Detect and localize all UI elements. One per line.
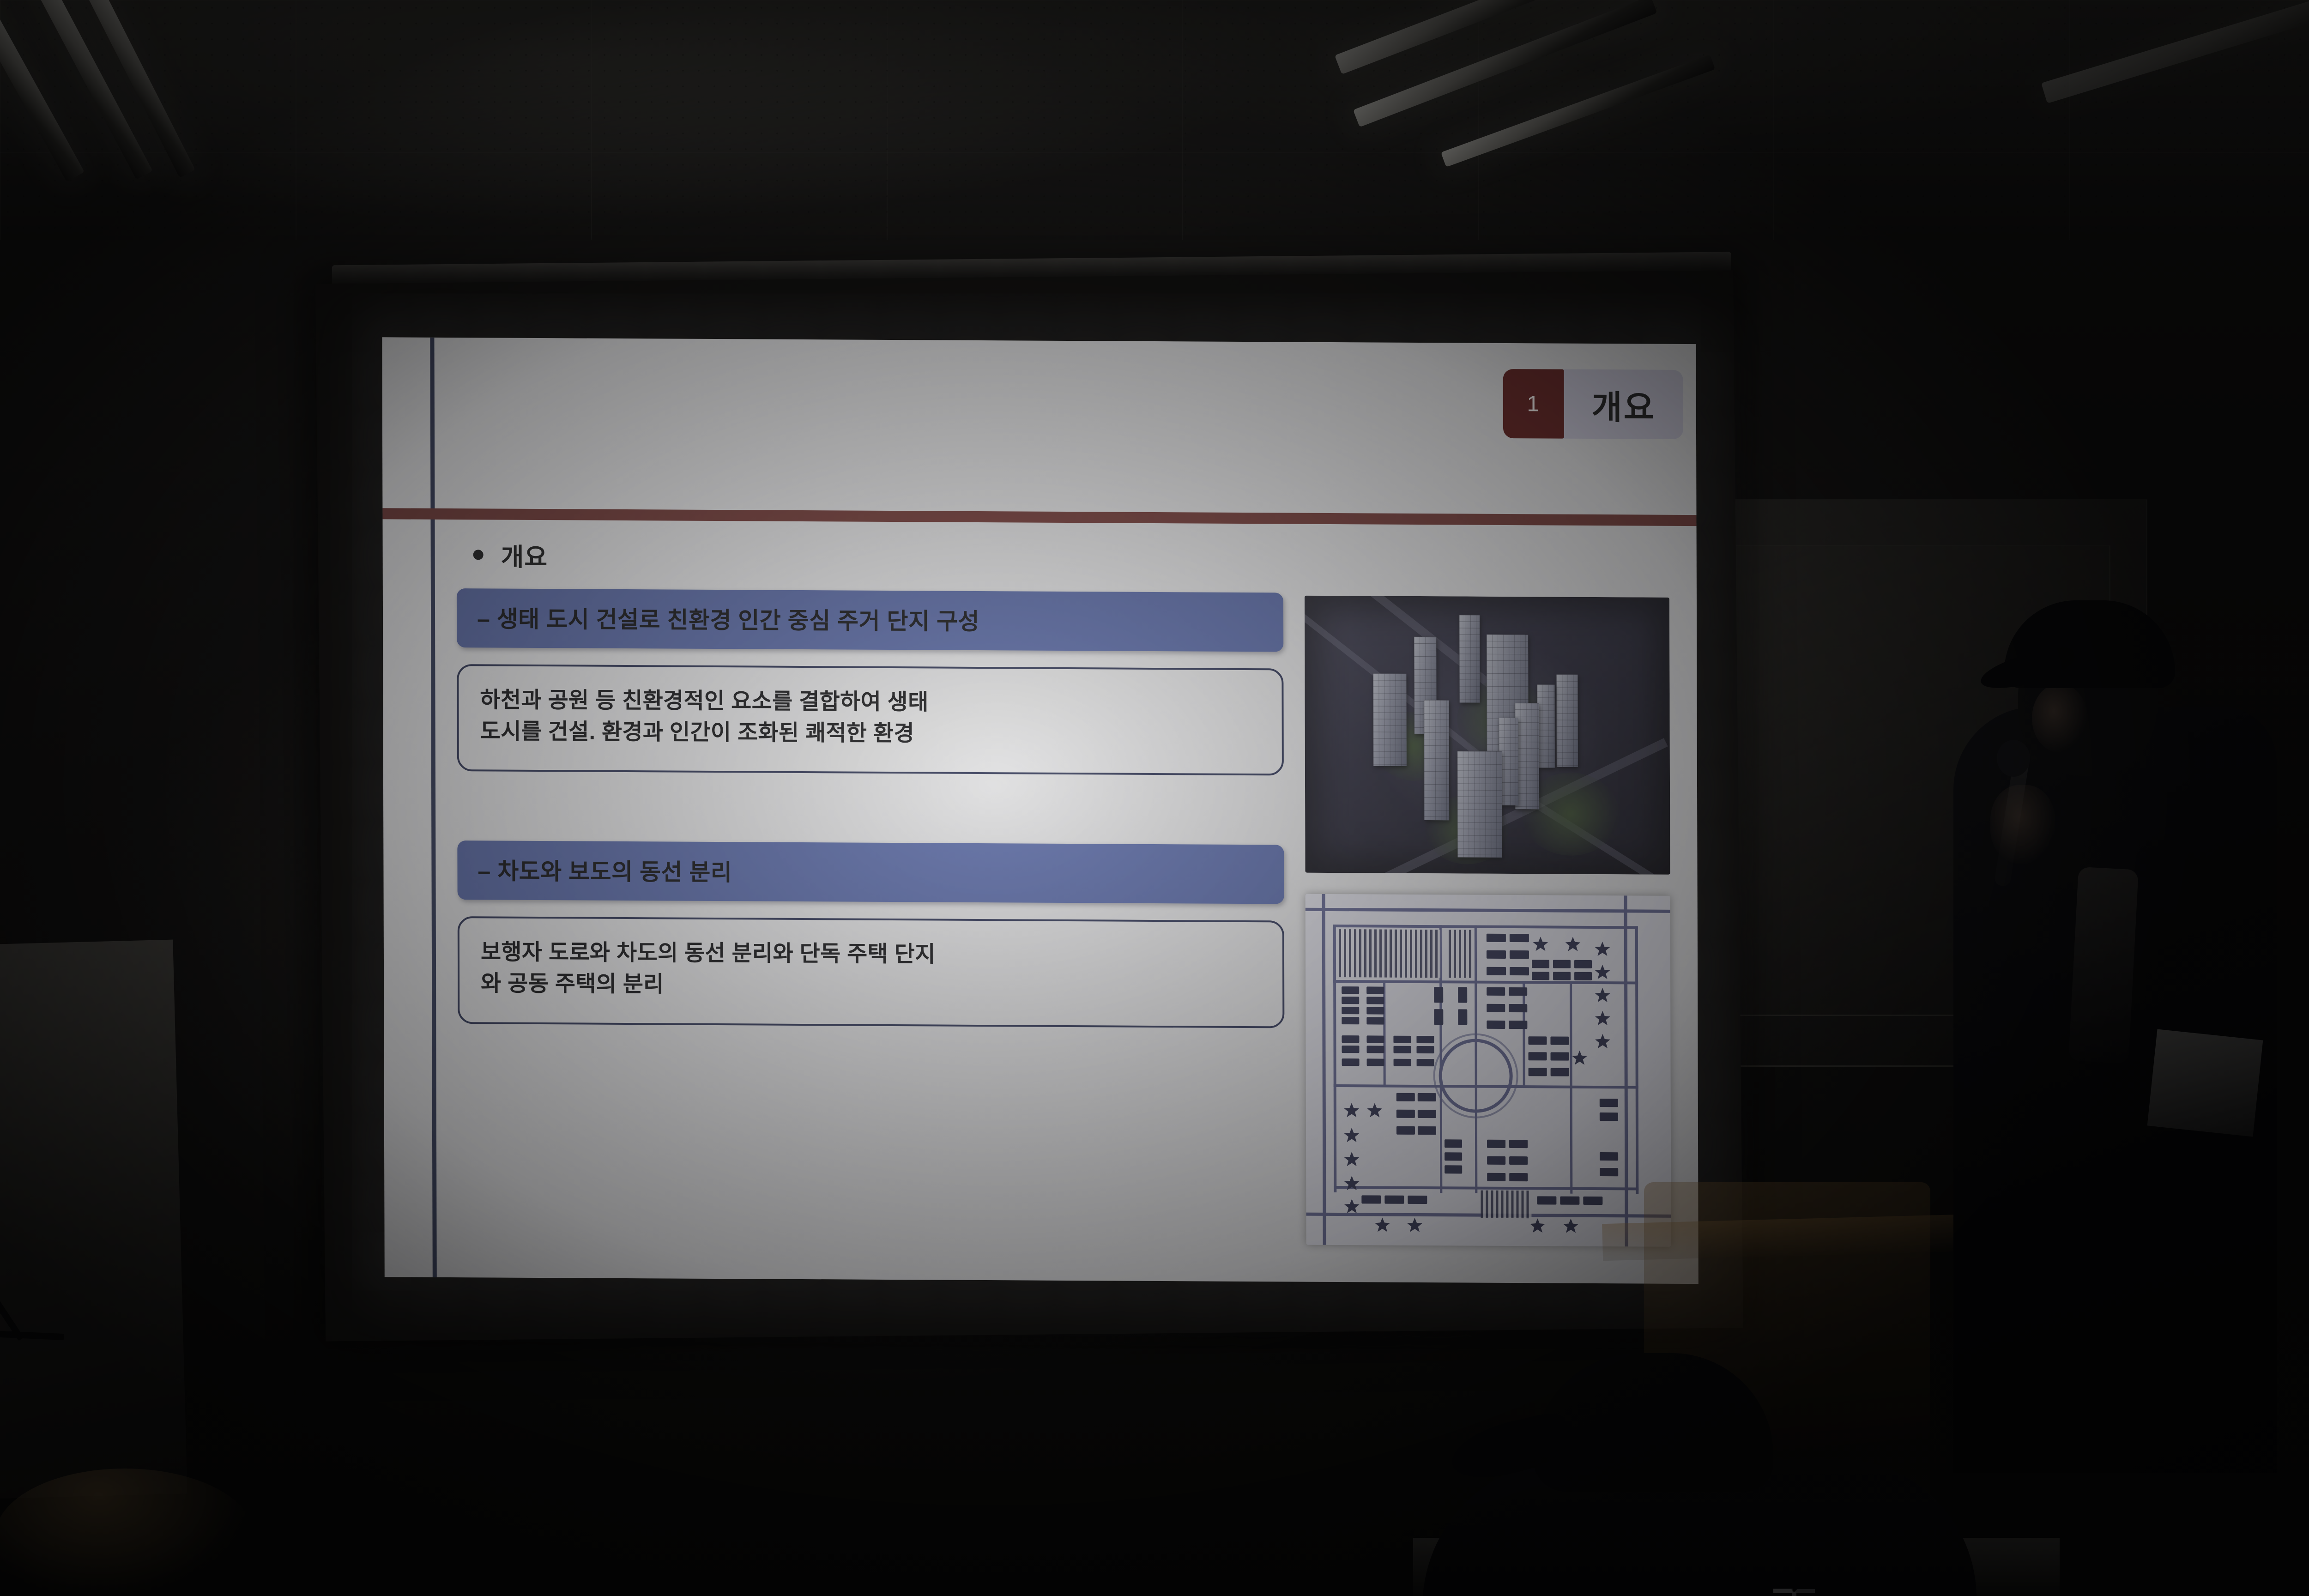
bullet-dot-icon xyxy=(473,550,484,560)
section-bar-2: – 차도와 보도의 동선 분리 xyxy=(457,840,1284,904)
ceiling-tile-grid xyxy=(0,0,2309,259)
plan-building xyxy=(1487,1140,1505,1148)
plan-building xyxy=(1416,1046,1434,1053)
plan-cluster-housing xyxy=(1344,1176,1360,1191)
plan-building xyxy=(1418,1110,1436,1118)
plan-building xyxy=(1510,967,1529,975)
plan-building xyxy=(1600,1112,1618,1121)
plan-cluster-housing xyxy=(1367,1103,1383,1118)
plan-building xyxy=(1458,987,1467,1003)
slide-vertical-accent-line xyxy=(430,338,436,1277)
plan-building xyxy=(1384,1196,1404,1204)
plan-dense-block xyxy=(1481,1191,1531,1219)
presenter-handout xyxy=(2147,1029,2263,1137)
plan-street xyxy=(1570,981,1572,1194)
site-plan-image xyxy=(1306,894,1671,1247)
plan-building xyxy=(1342,986,1359,994)
plan-building xyxy=(1509,1173,1528,1181)
plan-building xyxy=(1529,1068,1547,1076)
plan-cluster-housing xyxy=(1374,1217,1390,1233)
plan-building xyxy=(1445,1152,1462,1161)
plan-building xyxy=(1366,986,1384,994)
plan-building xyxy=(1367,1058,1384,1066)
plan-building xyxy=(1583,1197,1602,1205)
render-tower xyxy=(1373,673,1407,766)
plan-street xyxy=(1523,981,1525,1087)
diagram-stroke xyxy=(0,1268,24,1341)
ceiling xyxy=(0,0,2309,259)
aerial-render-image xyxy=(1305,596,1670,875)
screen-black-border: 1 개요 개요 – 생태 도시 건설로 친환경 인간 중심 주거 단지 구성 xyxy=(315,270,1743,1341)
plan-building xyxy=(1417,1059,1434,1066)
plan-building xyxy=(1560,1197,1579,1205)
audience-cap xyxy=(1533,1353,1773,1492)
render-tower xyxy=(1556,675,1578,767)
plan-building xyxy=(1510,934,1529,942)
plan-building xyxy=(1532,972,1549,980)
plan-cluster-housing xyxy=(1595,1011,1610,1027)
section-textbox-2-line-1: 보행자 도로와 차도의 동선 분리와 단독 주택 단지 xyxy=(481,937,1261,973)
lecture-room-photo: 한글 메모 1 개요 개요 xyxy=(0,0,2309,1596)
plan-building xyxy=(1487,987,1505,996)
plan-cluster-housing xyxy=(1595,942,1610,957)
plan-building xyxy=(1342,1058,1360,1066)
plan-roundabout-outer xyxy=(1433,1033,1518,1118)
plan-building xyxy=(1532,960,1549,968)
render-tower xyxy=(1457,751,1502,858)
plan-building xyxy=(1529,1052,1547,1060)
section-bar-1: – 생태 도시 건설로 친환경 인간 중심 주거 단지 구성 xyxy=(457,588,1283,652)
plan-building xyxy=(1487,1021,1505,1029)
plan-street xyxy=(1334,1186,1638,1190)
plan-cluster-housing xyxy=(1595,1034,1610,1050)
section-textbox-1: 하천과 공원 등 친환경적인 요소를 결합하여 생태 도시를 건설. 환경과 인… xyxy=(457,664,1284,776)
plan-building xyxy=(1574,972,1592,980)
plan-building xyxy=(1408,1196,1427,1204)
plan-building xyxy=(1418,1126,1436,1135)
plan-building xyxy=(1487,1173,1505,1181)
flipchart-board: 한글 메모 xyxy=(0,940,187,1499)
plan-building xyxy=(1574,960,1592,968)
plan-building xyxy=(1342,1007,1359,1014)
plan-building xyxy=(1366,1007,1384,1014)
plan-building xyxy=(1487,1156,1505,1165)
plan-building xyxy=(1342,1017,1359,1024)
wooden-stool xyxy=(0,1469,254,1596)
plan-building xyxy=(1396,1110,1415,1118)
plan-building xyxy=(1366,997,1384,1004)
plan-building xyxy=(1366,1046,1384,1053)
plan-building xyxy=(1550,1036,1569,1045)
plan-building xyxy=(1434,987,1443,1003)
plan-building xyxy=(1487,934,1506,942)
render-tower xyxy=(1537,684,1554,768)
plan-building xyxy=(1366,1017,1384,1024)
plan-dense-block xyxy=(1449,930,1474,978)
plan-dense-block xyxy=(1339,929,1440,978)
plan-building xyxy=(1509,1004,1527,1012)
section-textbox-2: 보행자 도로와 차도의 동선 분리와 단독 주택 단지 와 공동 주택의 분리 xyxy=(458,916,1285,1028)
plan-building xyxy=(1600,1152,1618,1161)
plan-building xyxy=(1551,1052,1569,1060)
plan-building xyxy=(1393,1036,1411,1043)
presenter-scarf xyxy=(2068,867,2139,1064)
text-column: – 생태 도시 건설로 친환경 인간 중심 주거 단지 구성 하천과 공원 등 … xyxy=(457,588,1285,1245)
plan-building xyxy=(1342,1035,1359,1043)
plan-building xyxy=(1418,1093,1436,1101)
plan-building xyxy=(1434,1009,1443,1025)
microphone-head xyxy=(1997,740,2030,777)
plan-street xyxy=(1383,980,1386,1087)
slide-header-badge: 1 개요 xyxy=(1503,369,1683,439)
plan-cluster-housing xyxy=(1563,1219,1578,1234)
plan-building xyxy=(1600,1099,1618,1107)
plan-cluster-housing xyxy=(1344,1128,1360,1143)
plan-street xyxy=(1306,908,1670,913)
plan-cluster-housing xyxy=(1529,1218,1545,1234)
page-title: 개요 xyxy=(1555,369,1683,439)
plan-cluster-housing xyxy=(1565,937,1581,953)
plan-cluster-housing xyxy=(1344,1152,1360,1167)
top-bullet-row: 개요 xyxy=(473,536,1685,579)
plan-building xyxy=(1509,1140,1528,1148)
plan-street xyxy=(1322,894,1326,1245)
slide-horizontal-divider xyxy=(382,508,1696,526)
plan-street xyxy=(1333,925,1337,1192)
plan-building xyxy=(1416,1036,1434,1043)
snowflake-logo-icon xyxy=(1773,1570,1815,1596)
render-tower xyxy=(1424,700,1450,820)
plan-building xyxy=(1510,950,1529,959)
plan-cluster-housing xyxy=(1572,1051,1588,1066)
plan-cluster-housing xyxy=(1407,1218,1422,1233)
plan-cluster-housing xyxy=(1533,937,1548,952)
plan-building xyxy=(1509,987,1527,996)
plan-cluster-housing xyxy=(1595,988,1610,1004)
section-textbox-1-line-2: 도시를 건설. 환경과 인간이 조화된 쾌적한 환경 xyxy=(480,716,1261,751)
image-column xyxy=(1305,593,1671,1247)
plan-building xyxy=(1342,997,1359,1004)
plan-cluster-housing xyxy=(1595,965,1610,980)
audience-member xyxy=(1422,1307,1977,1596)
render-tower xyxy=(1515,703,1540,809)
plan-building xyxy=(1396,1126,1415,1135)
plan-building xyxy=(1537,1196,1556,1204)
plan-street xyxy=(1333,925,1638,929)
projector-screen: 1 개요 개요 – 생태 도시 건설로 친환경 인간 중심 주거 단지 구성 xyxy=(300,252,1751,1355)
presentation-slide: 1 개요 개요 – 생태 도시 건설로 친환경 인간 중심 주거 단지 구성 xyxy=(382,337,1698,1284)
plan-building xyxy=(1600,1168,1618,1176)
plan-street xyxy=(1635,926,1639,1194)
top-bullet-label: 개요 xyxy=(501,537,548,574)
plan-building xyxy=(1487,950,1506,959)
flipchart-diagram xyxy=(0,1261,78,1355)
plan-building xyxy=(1445,1139,1462,1148)
presenter xyxy=(1935,568,2309,1473)
slide-body: 개요 – 생태 도시 건설로 친환경 인간 중심 주거 단지 구성 하천과 공원… xyxy=(457,536,1687,1247)
section-textbox-2-line-2: 와 공동 주택의 분리 xyxy=(481,968,1261,1004)
plan-building xyxy=(1487,967,1506,975)
plan-building xyxy=(1394,1059,1411,1066)
plan-building xyxy=(1458,1009,1467,1025)
plan-building xyxy=(1528,1036,1547,1045)
render-tower xyxy=(1459,615,1480,702)
plan-building xyxy=(1509,1156,1528,1165)
section-textbox-1-line-1: 하천과 공원 등 친환경적인 요소를 결합하여 생태 xyxy=(480,684,1260,720)
presenter-face xyxy=(2032,683,2087,753)
presenter-hand xyxy=(1990,785,2055,864)
plan-building xyxy=(1361,1195,1381,1203)
diagram-stroke xyxy=(0,1330,64,1340)
plan-building xyxy=(1366,1035,1384,1043)
plan-building xyxy=(1509,1021,1527,1029)
section-number: 1 xyxy=(1503,369,1564,439)
plan-building xyxy=(1553,960,1571,968)
plan-cluster-housing xyxy=(1344,1103,1360,1118)
plan-building xyxy=(1342,1046,1359,1053)
plan-building xyxy=(1551,1068,1569,1076)
flipchart-note: 한글 메모 xyxy=(0,1372,74,1390)
plan-building xyxy=(1396,1093,1415,1101)
plan-street xyxy=(1624,895,1628,1246)
plan-building xyxy=(1393,1046,1411,1053)
plan-building xyxy=(1487,1004,1505,1012)
plan-street xyxy=(1333,980,1638,984)
plan-building xyxy=(1445,1165,1462,1173)
plan-building xyxy=(1553,972,1571,980)
content-columns: – 생태 도시 건설로 친환경 인간 중심 주거 단지 구성 하천과 공원 등 … xyxy=(457,588,1687,1247)
